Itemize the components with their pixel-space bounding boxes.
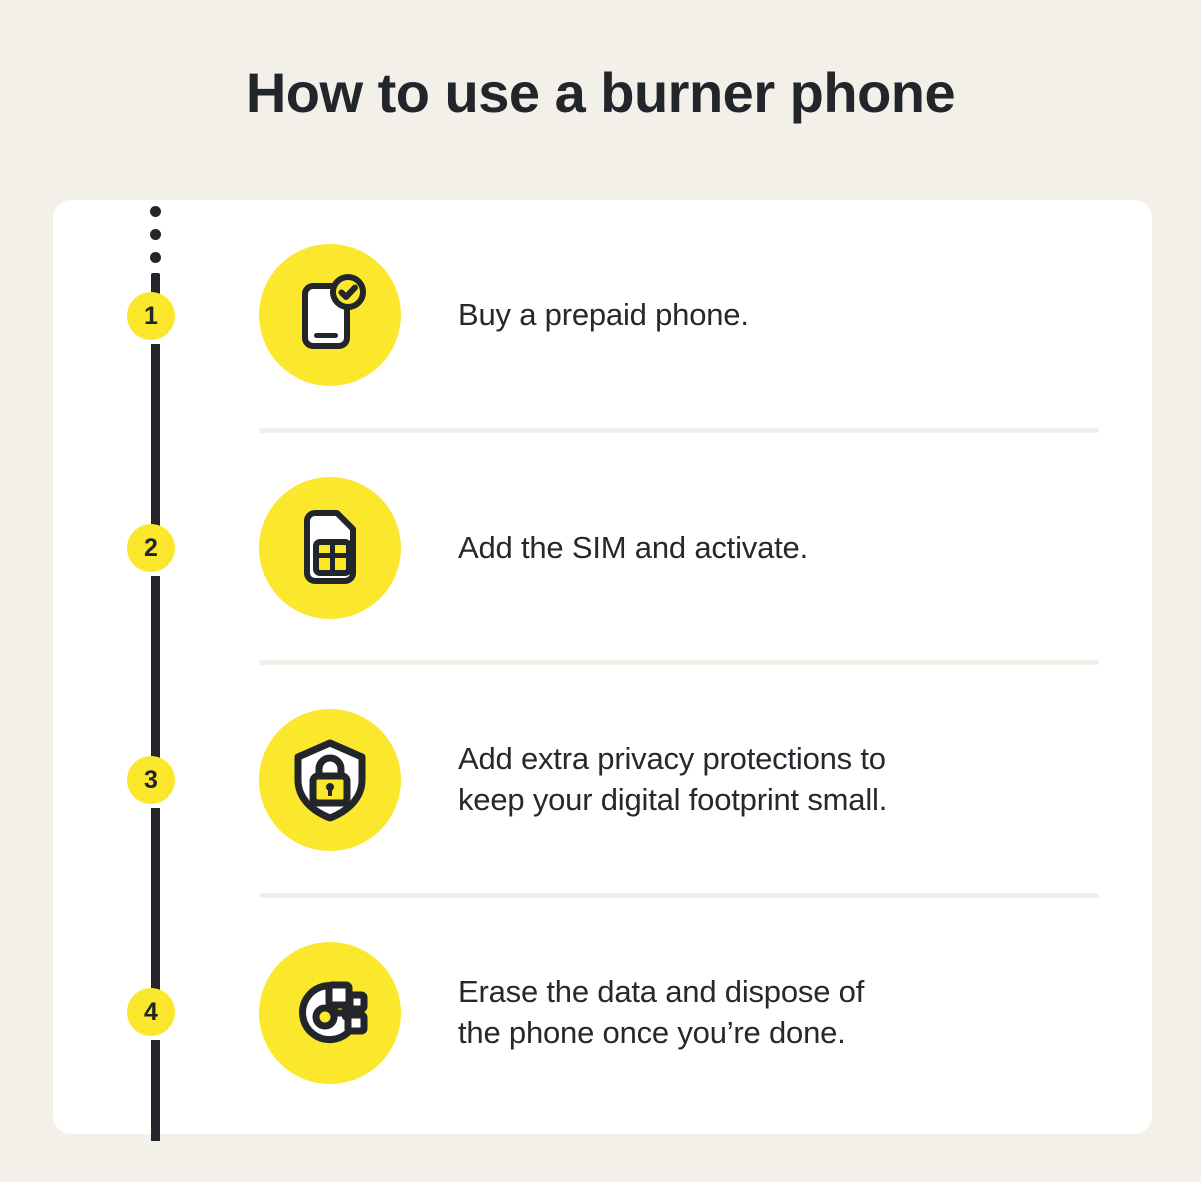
step-row-4: Erase the data and dispose of the phone …: [259, 942, 1099, 1084]
timeline-dot: [150, 252, 161, 263]
step-divider: [259, 893, 1099, 898]
step-text-3-line1: Add extra privacy protections to: [458, 739, 887, 780]
step-text-4-line2: the phone once you’re done.: [458, 1013, 864, 1054]
step-text-3-line2: keep your digital footprint small.: [458, 780, 887, 821]
timeline-line: [151, 576, 160, 764]
step-number: 4: [144, 998, 158, 1027]
timeline-line: [151, 1040, 160, 1141]
step-text-4: Erase the data and dispose of the phone …: [458, 972, 864, 1054]
timeline-line: [151, 808, 160, 996]
page-title: How to use a burner phone: [0, 62, 1201, 124]
step-text-2: Add the SIM and activate.: [458, 528, 808, 569]
timeline-dot: [150, 229, 161, 240]
timeline-line: [151, 344, 160, 532]
phone-check-icon: [259, 244, 401, 386]
step-divider: [259, 660, 1099, 665]
step-number: 1: [144, 302, 158, 331]
step-badge-3: 3: [127, 756, 175, 804]
step-badge-2: 2: [127, 524, 175, 572]
step-row-3: Add extra privacy protections to keep yo…: [259, 709, 1099, 851]
step-row-1: Buy a prepaid phone.: [259, 244, 1099, 386]
step-number: 2: [144, 534, 158, 563]
step-divider: [259, 428, 1099, 433]
timeline-rail: 1 2 3 4: [146, 196, 166, 1141]
infographic-root: How to use a burner phone 1 2 3 4: [0, 0, 1201, 1182]
step-number: 3: [144, 766, 158, 795]
step-row-2: Add the SIM and activate.: [259, 477, 1099, 619]
shield-lock-icon: [259, 709, 401, 851]
step-badge-1: 1: [127, 292, 175, 340]
step-text-1: Buy a prepaid phone.: [458, 295, 749, 336]
step-text-4-line1: Erase the data and dispose of: [458, 972, 864, 1013]
data-erase-disc-icon: [259, 942, 401, 1084]
step-badge-4: 4: [127, 988, 175, 1036]
timeline-dot: [150, 206, 161, 217]
sim-card-icon: [259, 477, 401, 619]
step-text-3: Add extra privacy protections to keep yo…: [458, 739, 887, 821]
